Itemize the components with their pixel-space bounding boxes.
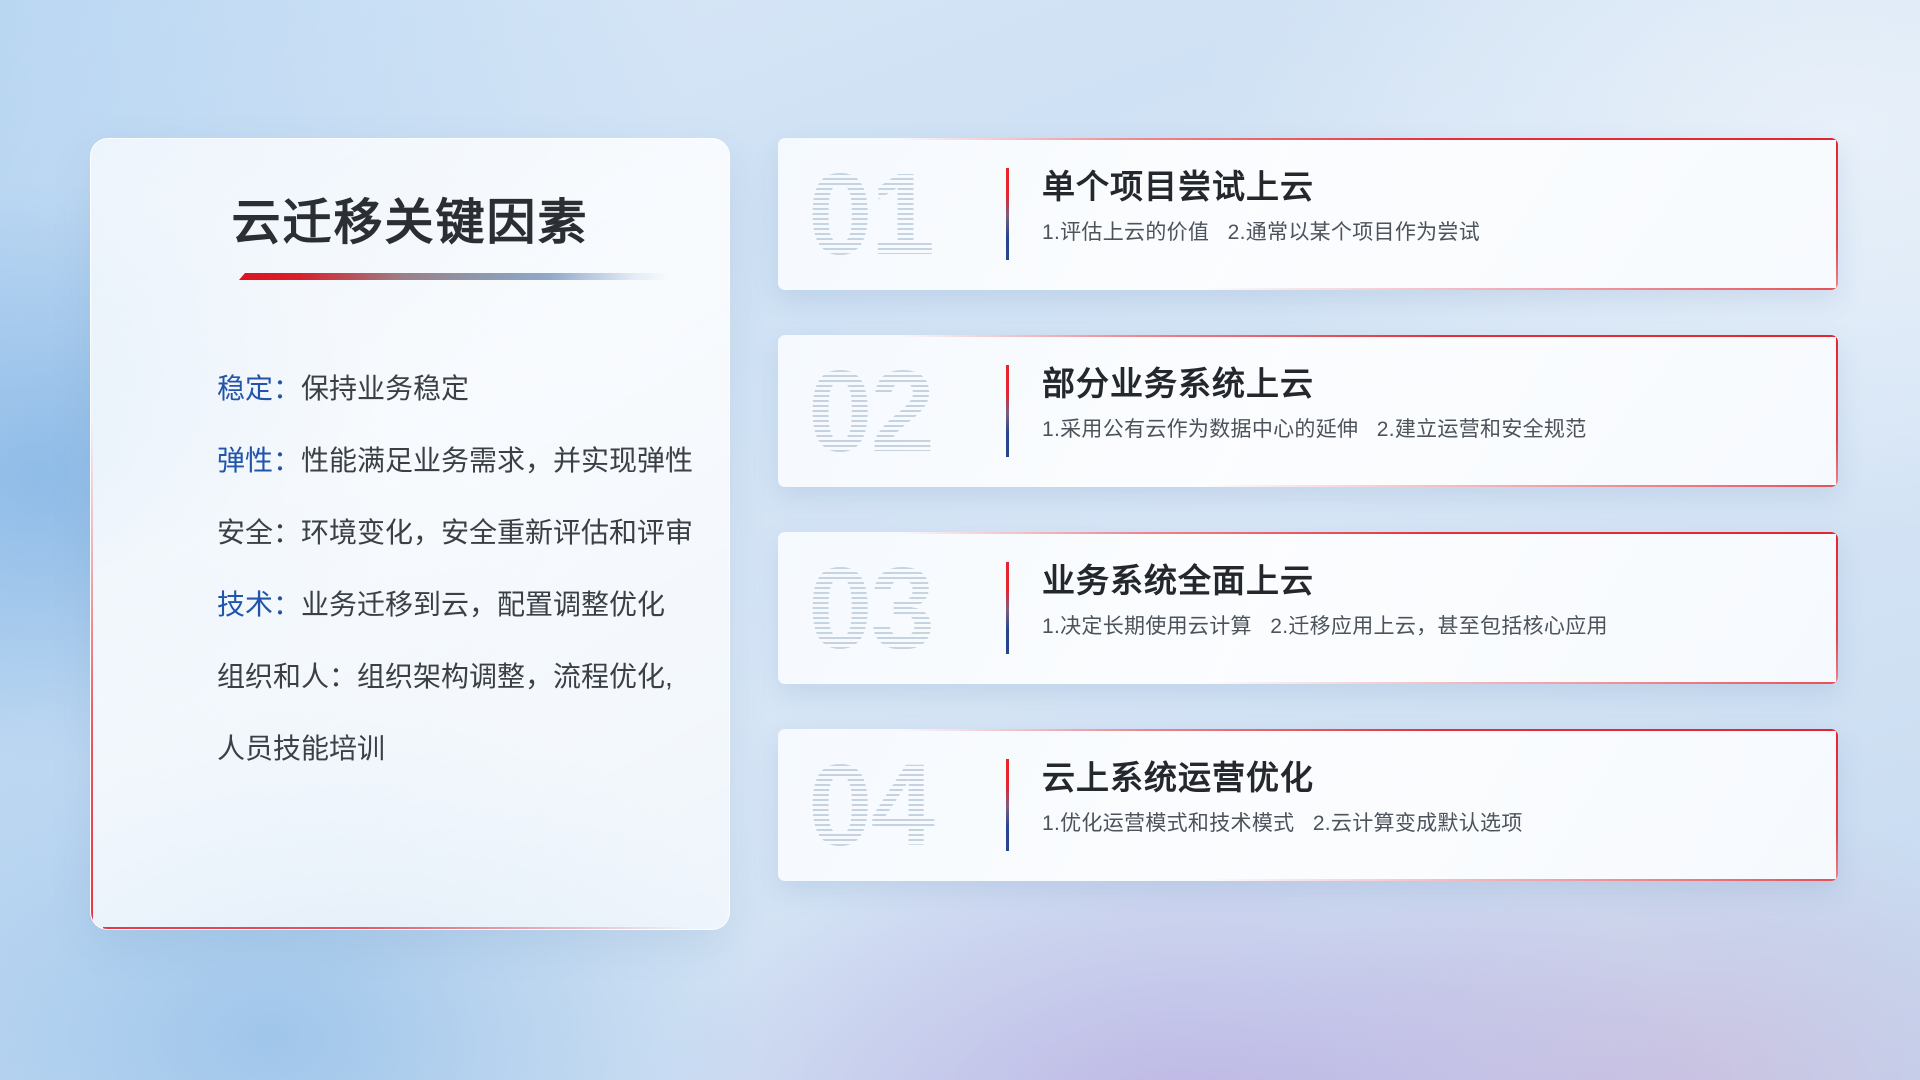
card-step-number: 01 — [808, 148, 988, 280]
factor-row: 人员技能培训 — [217, 713, 689, 785]
factor-label: 组织和人： — [217, 661, 357, 692]
factor-value: 性能满足业务需求，并实现弹性 — [301, 445, 693, 476]
card-divider-bar — [1006, 759, 1009, 851]
factor-value: 环境变化，安全重新评估和评审 — [301, 517, 693, 548]
panel-bottom-accent-edge — [103, 927, 715, 929]
card-step-number: 03 — [808, 542, 988, 674]
card-divider-bar — [1006, 168, 1009, 260]
stage-card[interactable]: 03 业务系统全面上云 1.决定长期使用云计算 2.迁移应用上云，甚至包括核心应… — [778, 532, 1838, 684]
card-title: 单个项目尝试上云 — [1042, 160, 1314, 208]
card-description: 1.评估上云的价值 2.通常以某个项目作为尝试 — [1042, 216, 1480, 246]
factor-value: 业务迁移到云，配置调整优化 — [301, 589, 665, 620]
card-step-number: 02 — [808, 345, 988, 477]
factor-value: 人员技能培训 — [217, 733, 385, 764]
card-bottom-accent — [1202, 288, 1838, 290]
factor-label: 弹性： — [217, 445, 301, 476]
stage-card[interactable]: 01 单个项目尝试上云 1.评估上云的价值 2.通常以某个项目作为尝试 — [778, 138, 1838, 290]
panel-left-accent-edge — [91, 149, 93, 923]
card-description: 1.优化运营模式和技术模式 2.云计算变成默认选项 — [1042, 807, 1523, 837]
card-description: 1.决定长期使用云计算 2.迁移应用上云，甚至包括核心应用 — [1042, 610, 1608, 640]
page-title: 云迁移关键因素 — [91, 183, 729, 254]
card-top-accent — [898, 532, 1838, 534]
factor-list: 稳定：保持业务稳定 弹性：性能满足业务需求，并实现弹性 安全：环境变化，安全重新… — [217, 353, 689, 785]
card-bottom-accent — [1202, 485, 1838, 487]
factor-value: 保持业务稳定 — [301, 373, 469, 404]
stage-card[interactable]: 04 云上系统运营优化 1.优化运营模式和技术模式 2.云计算变成默认选项 — [778, 729, 1838, 881]
stage-card[interactable]: 02 部分业务系统上云 1.采用公有云作为数据中心的延伸 2.建立运营和安全规范 — [778, 335, 1838, 487]
card-right-accent — [1836, 138, 1838, 290]
card-top-accent — [898, 138, 1838, 140]
factor-label: 技术： — [217, 589, 301, 620]
card-title: 业务系统全面上云 — [1042, 554, 1314, 602]
card-divider-bar — [1006, 562, 1009, 654]
factor-row: 安全：环境变化，安全重新评估和评审 — [217, 497, 689, 569]
factor-label: 稳定： — [217, 373, 301, 404]
stage-card-list: 01 单个项目尝试上云 1.评估上云的价值 2.通常以某个项目作为尝试 02 部… — [778, 138, 1838, 926]
card-title: 部分业务系统上云 — [1042, 357, 1314, 405]
card-right-accent — [1836, 729, 1838, 881]
factor-row: 稳定：保持业务稳定 — [217, 353, 689, 425]
factor-row: 组织和人：组织架构调整，流程优化, — [217, 641, 689, 713]
card-right-accent — [1836, 532, 1838, 684]
card-divider-bar — [1006, 365, 1009, 457]
card-description: 1.采用公有云作为数据中心的延伸 2.建立运营和安全规范 — [1042, 413, 1587, 443]
factor-row: 技术：业务迁移到云，配置调整优化 — [217, 569, 689, 641]
title-underline-rule — [239, 273, 669, 280]
card-step-number: 04 — [808, 739, 988, 871]
card-bottom-accent — [1202, 682, 1838, 684]
factor-label: 安全： — [217, 517, 301, 548]
card-right-accent — [1836, 335, 1838, 487]
key-factors-panel: 云迁移关键因素 稳定：保持业务稳定 弹性：性能满足业务需求，并实现弹性 安全：环… — [90, 138, 730, 930]
card-title: 云上系统运营优化 — [1042, 751, 1314, 799]
card-bottom-accent — [1202, 879, 1838, 881]
factor-row: 弹性：性能满足业务需求，并实现弹性 — [217, 425, 689, 497]
factor-value: 组织架构调整，流程优化, — [357, 661, 673, 692]
card-top-accent — [898, 729, 1838, 731]
card-top-accent — [898, 335, 1838, 337]
